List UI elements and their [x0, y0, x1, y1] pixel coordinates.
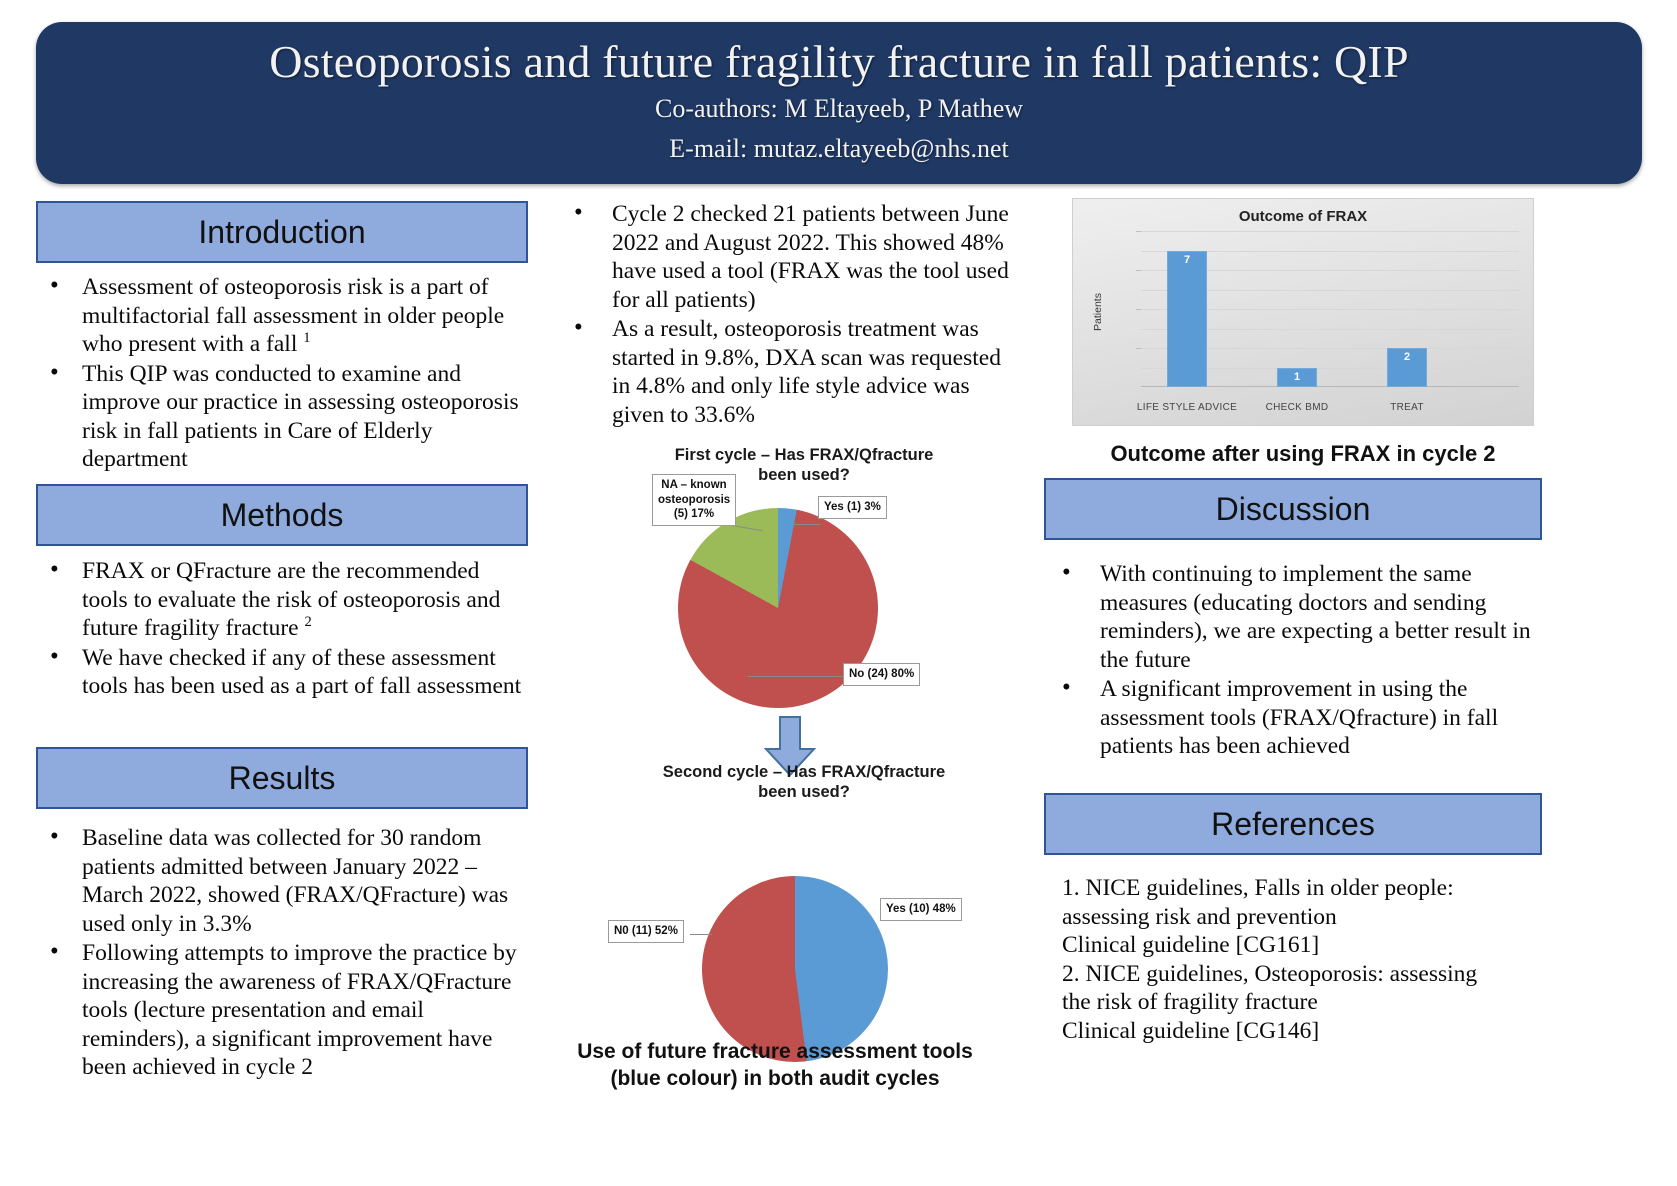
bar-value-label: 1: [1277, 371, 1317, 383]
bar-chart-panel: Outcome of FRAX Patients 7 1 2: [1072, 198, 1534, 426]
results-continued-body: Cycle 2 checked 21 patients between June…: [556, 200, 1022, 430]
section-header-discussion: Discussion: [1044, 478, 1542, 540]
y-tick: [1136, 348, 1141, 349]
pie-pair-caption-line2: (blue colour) in both audit cycles: [560, 1065, 990, 1092]
coauthors-line: Co-authors: M Eltayeeb, P Mathew: [655, 92, 1023, 125]
section-header-references: References: [1044, 793, 1542, 855]
list-item: FRAX or QFracture are the recommended to…: [36, 557, 528, 643]
poster-title-banner: Osteoporosis and future fragility fractu…: [36, 22, 1642, 184]
pie-1-callout-na-line3: (5) 17%: [674, 508, 714, 520]
pie-2-callout-yes: Yes (10) 48%: [880, 898, 962, 921]
gridline: [1141, 231, 1519, 232]
bar-value-label: 2: [1387, 351, 1427, 363]
bar-value-label: 7: [1167, 254, 1207, 266]
bar-treat: 2: [1387, 348, 1427, 387]
reference-line: Clinical guideline [CG161]: [1062, 931, 1562, 960]
pie-2-callout-no: N0 (11) 52%: [608, 920, 684, 943]
methods-bullet-list: FRAX or QFracture are the recommended to…: [36, 557, 528, 701]
bar-chart-title: Outcome of FRAX: [1073, 208, 1533, 225]
y-tick: [1136, 270, 1141, 271]
results-continued-bullet-list: Cycle 2 checked 21 patients between June…: [556, 200, 1022, 429]
bar-chart-caption: Outcome after using FRAX in cycle 2: [1044, 441, 1562, 467]
bar-chart-plot-area: 7 1 2: [1141, 231, 1519, 387]
section-header-discussion-label: Discussion: [1216, 491, 1371, 528]
pie-1-callout-na-line2: osteoporosis: [658, 494, 730, 506]
pie-1-callout-no: No (24) 80%: [843, 663, 920, 686]
section-header-introduction-label: Introduction: [198, 214, 365, 251]
list-item: We have checked if any of these assessme…: [36, 644, 528, 701]
pie-chart-2: [702, 876, 888, 1062]
list-item: A significant improvement in using the a…: [1044, 675, 1550, 761]
poster-canvas: Osteoporosis and future fragility fractu…: [0, 0, 1677, 1186]
reference-line: the risk of fragility fracture: [1062, 988, 1562, 1017]
x-axis-label-2: TREAT: [1390, 402, 1424, 413]
bar-life-style-advice: 7: [1167, 251, 1207, 388]
pie-chart-2-title: Second cycle – Has FRAX/Qfracture been u…: [618, 762, 990, 803]
section-header-results: Results: [36, 747, 528, 809]
results-bullet-list: Baseline data was collected for 30 rando…: [36, 824, 534, 1082]
list-item: Cycle 2 checked 21 patients between June…: [556, 200, 1022, 314]
pie-1-callout-na: NA – known osteoporosis (5) 17%: [652, 474, 736, 526]
reference-line: assessing risk and prevention: [1062, 903, 1562, 932]
x-axis-label-1: CHECK BMD: [1266, 402, 1329, 413]
section-header-methods-label: Methods: [221, 497, 344, 534]
pie-1-leader-no: [748, 676, 844, 677]
list-item: Following attempts to improve the practi…: [36, 939, 534, 1082]
pie-2-leader-no: [690, 934, 712, 935]
y-tick: [1136, 309, 1141, 310]
list-item: With continuing to implement the same me…: [1044, 560, 1550, 674]
section-header-introduction: Introduction: [36, 201, 528, 263]
x-axis-label-0: LIFE STYLE ADVICE: [1137, 402, 1237, 413]
pie-1-callout-yes: Yes (1) 3%: [818, 496, 887, 519]
results-body: Baseline data was collected for 30 rando…: [36, 824, 534, 1083]
y-tick: [1136, 231, 1141, 232]
reference-line: Clinical guideline [CG146]: [1062, 1017, 1562, 1046]
pie-chart-2-title-line1: Second cycle – Has FRAX/Qfracture: [618, 762, 990, 782]
list-item: Baseline data was collected for 30 rando…: [36, 824, 534, 938]
section-header-results-label: Results: [229, 760, 336, 797]
email-line: E-mail: mutaz.eltayeeb@nhs.net: [669, 132, 1008, 165]
pie-pair-caption-line1: Use of future fracture assessment tools: [560, 1038, 990, 1065]
section-header-references-label: References: [1211, 806, 1375, 843]
discussion-body: With continuing to implement the same me…: [1044, 560, 1550, 762]
list-item: This QIP was conducted to examine and im…: [36, 360, 528, 474]
page-title: Osteoporosis and future fragility fractu…: [269, 38, 1409, 86]
bar-check-bmd: 1: [1277, 368, 1317, 388]
introduction-body: Assessment of osteoporosis risk is a par…: [36, 273, 528, 475]
list-item: As a result, osteoporosis treatment was …: [556, 315, 1022, 429]
section-header-methods: Methods: [36, 484, 528, 546]
introduction-bullet-list: Assessment of osteoporosis risk is a par…: [36, 273, 528, 474]
methods-body: FRAX or QFracture are the recommended to…: [36, 557, 528, 702]
pie-1-callout-na-line1: NA – known: [661, 479, 726, 491]
pie-chart-1-title-line1: First cycle – Has FRAX/Qfracture: [628, 445, 980, 465]
bar-chart-y-axis-label: Patients: [1092, 293, 1104, 331]
pie-1-leader-yes: [792, 524, 820, 525]
pie-chart-2-title-line2: been used?: [618, 782, 990, 802]
reference-line: 2. NICE guidelines, Osteoporosis: assess…: [1062, 960, 1562, 989]
reference-line: 1. NICE guidelines, Falls in older peopl…: [1062, 874, 1562, 903]
pie-pair-caption: Use of future fracture assessment tools …: [560, 1038, 990, 1093]
references-body: 1. NICE guidelines, Falls in older peopl…: [1062, 874, 1562, 1045]
discussion-bullet-list: With continuing to implement the same me…: [1044, 560, 1550, 761]
list-item: Assessment of osteoporosis risk is a par…: [36, 273, 528, 359]
